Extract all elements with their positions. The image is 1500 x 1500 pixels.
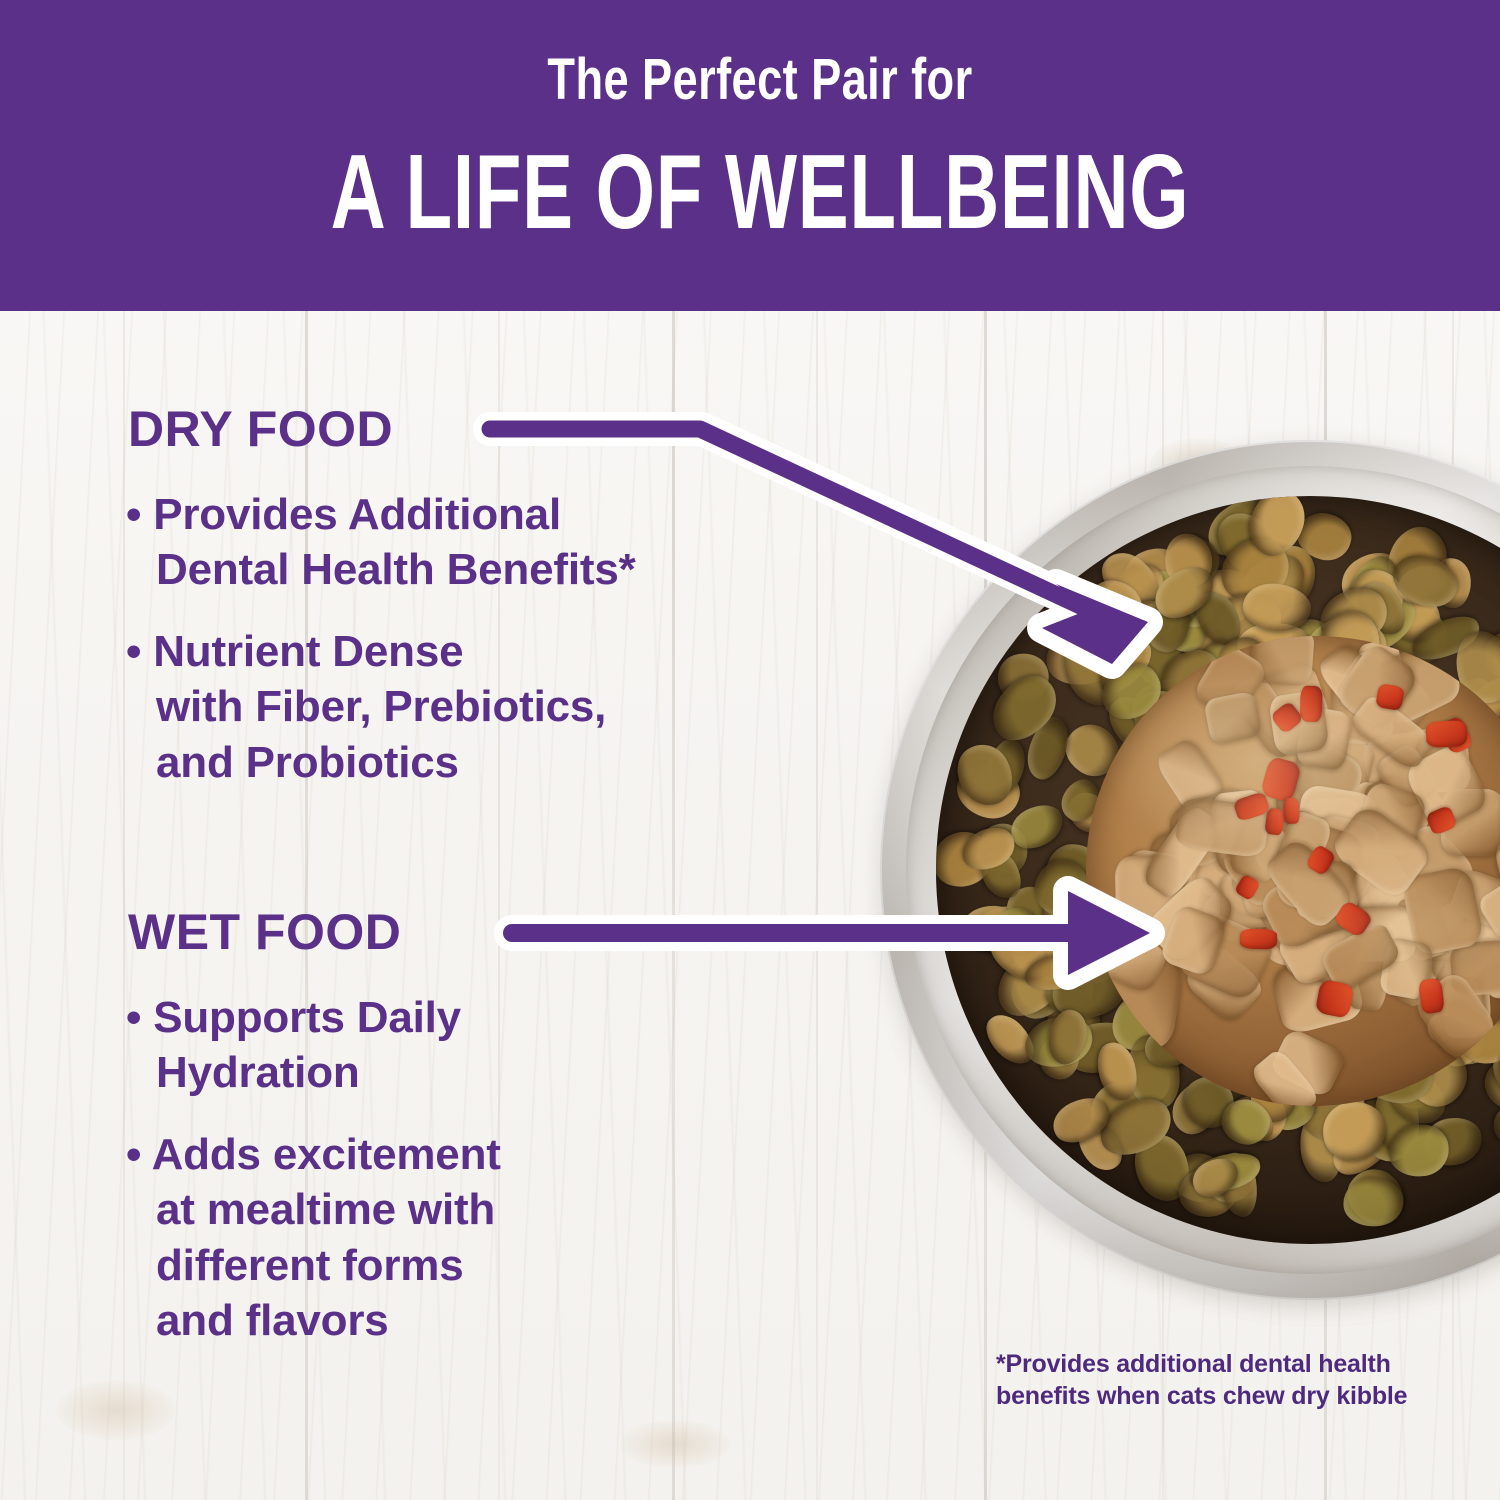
bullet-list-wet-food: • Supports Daily Hydration • Adds excite…: [126, 990, 886, 1349]
section-heading-dry-food: DRY FOOD: [128, 400, 393, 458]
list-item: • Nutrient Dense with Fiber, Prebiotics,…: [126, 624, 886, 790]
list-item: • Provides Additional Dental Health Bene…: [126, 487, 886, 598]
bullet-list-dry-food: • Provides Additional Dental Health Bene…: [126, 487, 886, 790]
section-heading-wet-food: WET FOOD: [128, 903, 401, 961]
list-item: • Adds excitement at mealtime with diffe…: [126, 1127, 886, 1349]
infographic-page: The Perfect Pair for A LIFE OF WELLBEING…: [0, 0, 1500, 1500]
footnote-line-2: benefits when cats chew dry kibble: [996, 1382, 1407, 1410]
list-item: • Supports Daily Hydration: [126, 990, 886, 1101]
footnote-line-1: *Provides additional dental health: [996, 1350, 1391, 1378]
footnote-disclaimer: *Provides additional dental health benef…: [996, 1348, 1436, 1412]
benefits-column: DRY FOOD • Provides Additional Dental He…: [0, 0, 900, 1500]
